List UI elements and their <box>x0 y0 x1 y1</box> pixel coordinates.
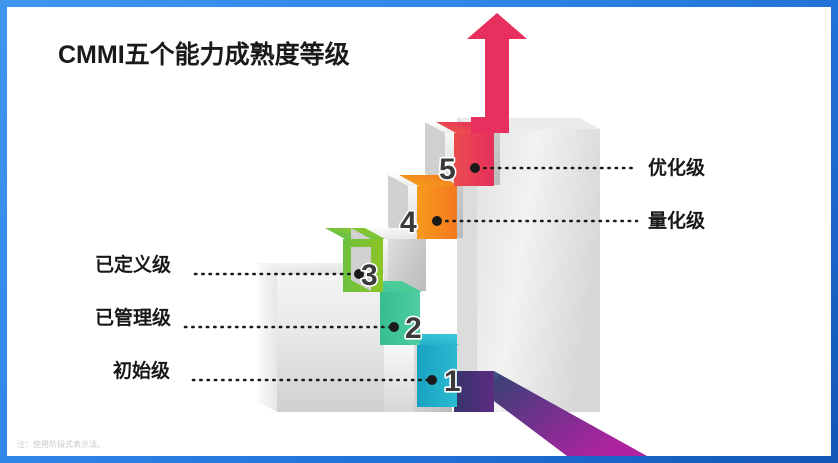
cmmi-staircase-diagram: 5 4 3 2 1 <box>7 7 831 456</box>
step-number-3: 3 <box>361 259 378 292</box>
ribbon-upper <box>343 239 423 247</box>
label-defined: 已定义级 <box>95 250 171 277</box>
leader-dot-level4 <box>432 216 442 226</box>
label-managed: 已管理级 <box>95 303 171 330</box>
leader-dot-level5 <box>470 163 480 173</box>
ribbon-step-4 <box>417 186 457 239</box>
step-number-5: 5 <box>439 153 456 186</box>
step-number-1: 1 <box>444 365 461 398</box>
label-quantitative: 量化级 <box>648 206 705 233</box>
label-initial: 初始级 <box>113 356 170 383</box>
footnote: 注：使用阶段式表示法。 <box>17 439 105 450</box>
leader-dot-level1 <box>427 375 437 385</box>
label-optimizing: 优化级 <box>648 153 705 180</box>
step-number-2: 2 <box>405 312 422 345</box>
page-title: CMMI五个能力成熟度等级 <box>58 35 350 71</box>
leader-dot-level2 <box>389 322 399 332</box>
slide-frame: CMMI五个能力成熟度等级 <box>0 0 838 463</box>
slide-canvas: CMMI五个能力成熟度等级 <box>7 7 831 456</box>
step-number-4: 4 <box>400 206 417 239</box>
